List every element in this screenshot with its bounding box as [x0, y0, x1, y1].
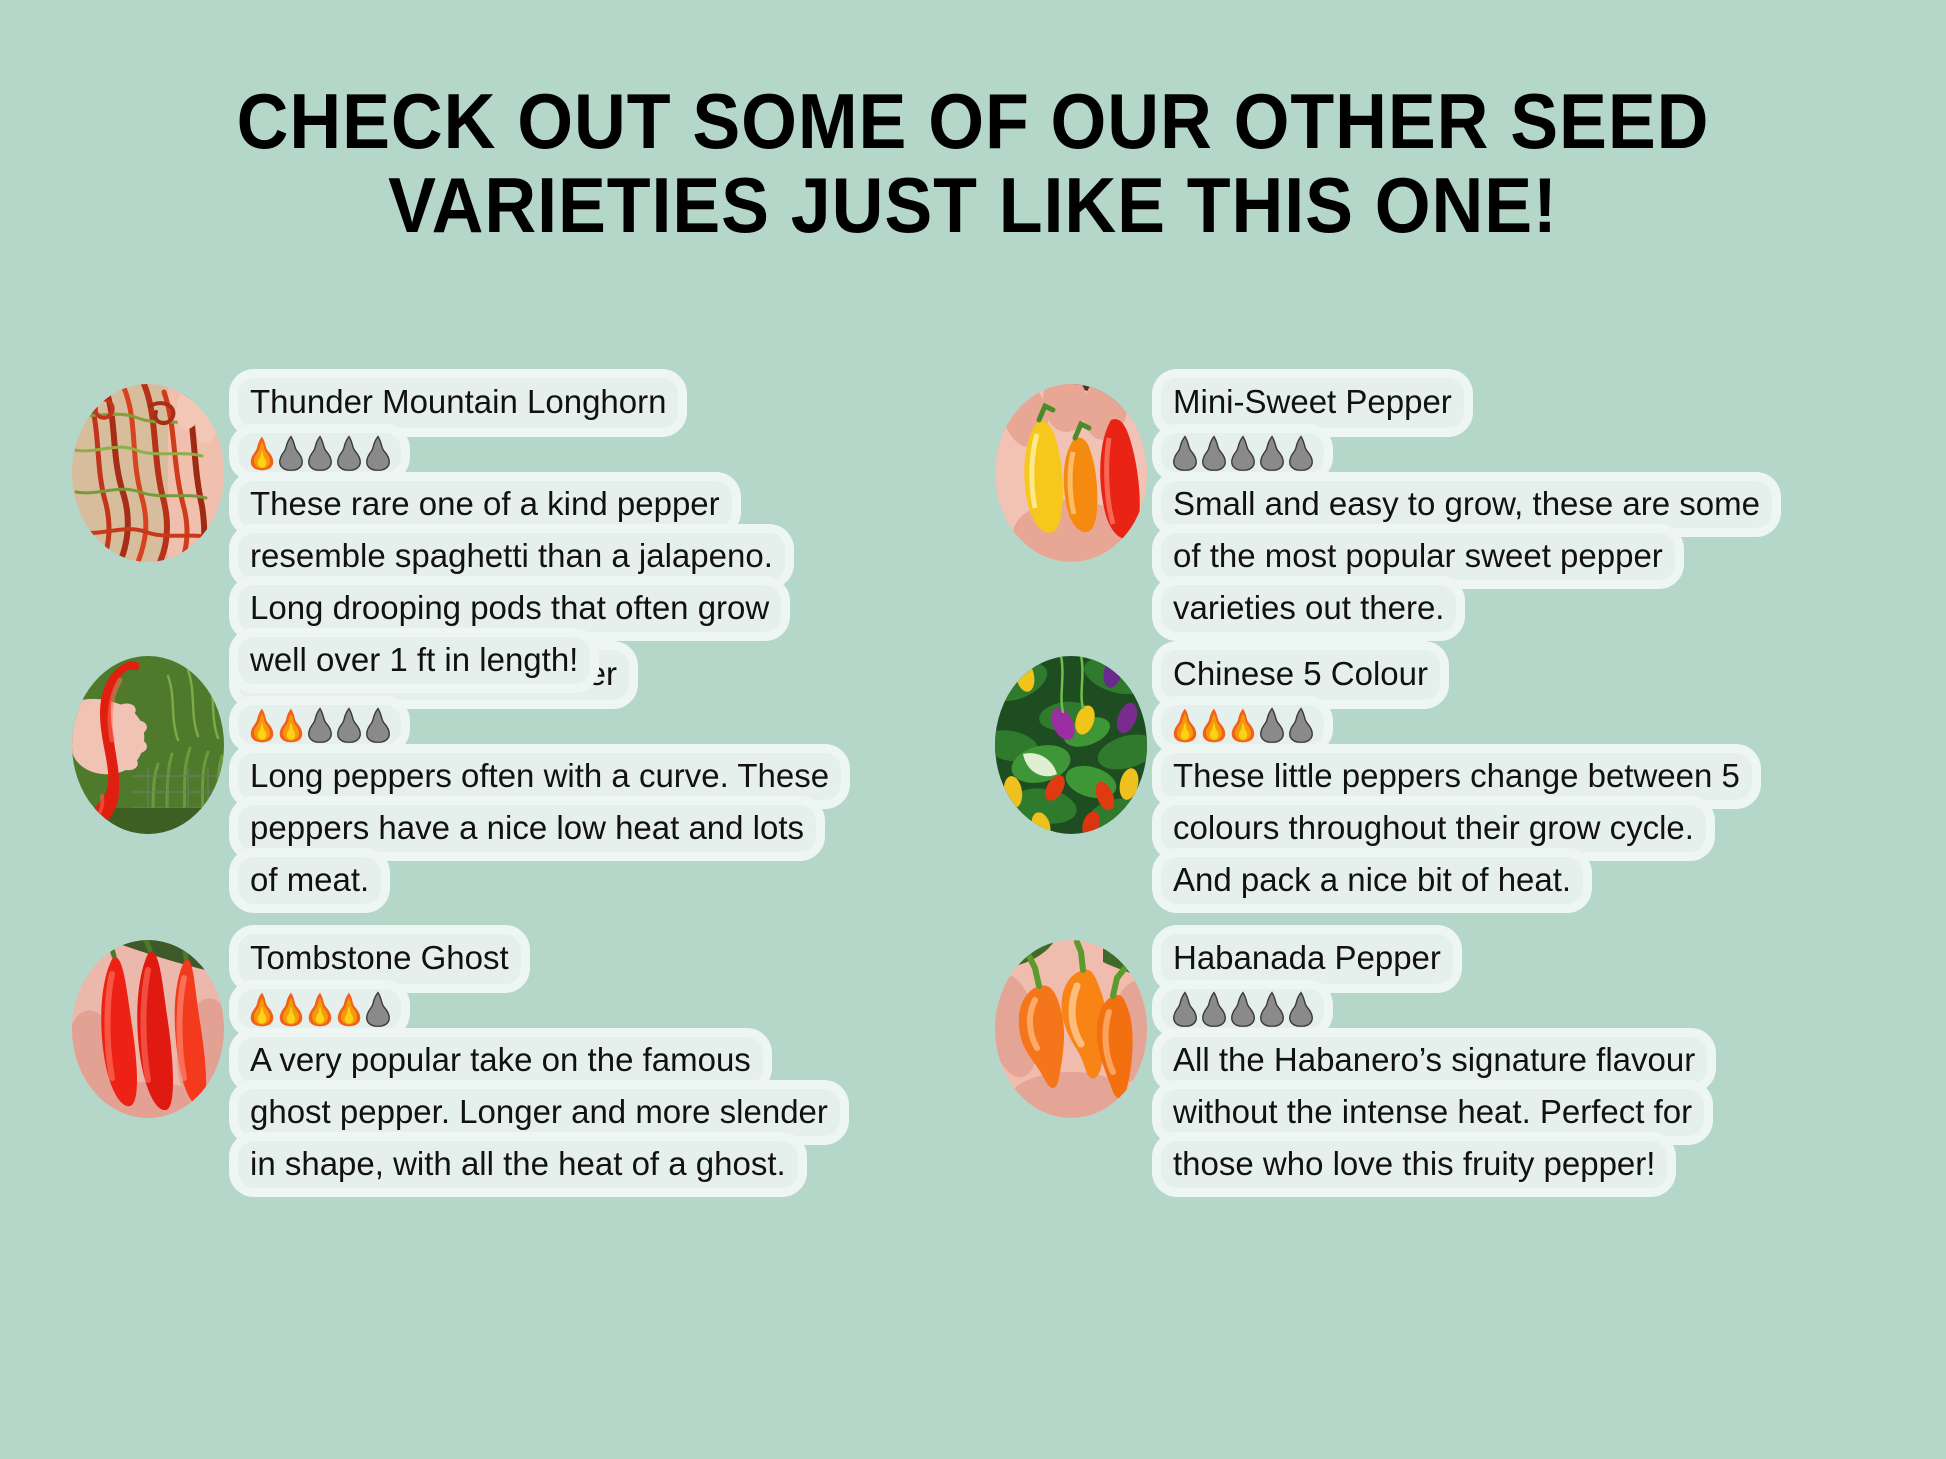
variety-description-line: Long peppers often with a curve. These	[238, 753, 841, 800]
variety-description-line: These rare one of a kind pepper	[238, 481, 732, 528]
flame-hot-icon	[276, 991, 306, 1027]
variety-description-line: resemble spaghetti than a jalapeno.	[238, 533, 785, 580]
variety-card-chinese-5-colour[interactable]: Chinese 5 ColourThese little peppers cha…	[995, 640, 1946, 924]
flame-cold-icon	[1170, 991, 1200, 1027]
flame-hot-icon	[1228, 707, 1258, 743]
variety-card-tombstone-ghost[interactable]: Tombstone GhostA very popular take on th…	[0, 924, 995, 1204]
heat-rating-0-of-5	[1161, 433, 1324, 473]
flame-cold-icon	[363, 435, 393, 471]
variety-description-line: of the most popular sweet pepper	[1161, 533, 1675, 580]
variety-description-line: Small and easy to grow, these are some	[1161, 481, 1772, 528]
page-title: CHECK OUT SOME OF OUR OTHER SEED VARIETI…	[78, 80, 1868, 247]
variety-description-line: without the intense heat. Perfect for	[1161, 1089, 1704, 1136]
variety-description-line: And pack a nice bit of heat.	[1161, 857, 1583, 904]
variety-thumbnail-thunder-mountain-longhorn[interactable]	[72, 384, 224, 562]
variety-description-line: peppers have a nice low heat and lots	[238, 805, 816, 852]
flame-cold-icon	[1170, 435, 1200, 471]
variety-description-line: Long drooping pods that often grow	[238, 585, 781, 632]
flame-hot-icon	[1199, 707, 1229, 743]
heat-rating-1-of-5	[238, 433, 401, 473]
flame-cold-icon	[1257, 991, 1287, 1027]
flame-cold-icon	[1286, 435, 1316, 471]
variety-card-row: Thunder Mountain LonghornThese rare one …	[0, 368, 1946, 640]
variety-description: These little peppers change between 5col…	[1161, 753, 1946, 904]
variety-description-line: in shape, with all the heat of a ghost.	[238, 1141, 798, 1188]
flame-cold-icon	[1286, 707, 1316, 743]
heat-rating-0-of-5	[1161, 989, 1324, 1029]
variety-thumbnail-portuguese-long-pepper[interactable]	[72, 656, 224, 834]
flame-hot-icon	[276, 707, 306, 743]
variety-description-line: A very popular take on the famous	[238, 1037, 763, 1084]
heat-rating-wrapper	[1161, 433, 1946, 479]
flame-cold-icon	[363, 707, 393, 743]
variety-name: Mini-Sweet Pepper	[1161, 378, 1464, 428]
flame-cold-icon	[1228, 991, 1258, 1027]
flame-cold-icon	[1257, 435, 1287, 471]
variety-description: All the Habanero’s signature flavourwith…	[1161, 1037, 1946, 1188]
heat-rating-wrapper	[1161, 989, 1946, 1035]
page-title-line-2: VARIETIES JUST LIKE THIS ONE!	[78, 164, 1868, 247]
heat-rating-wrapper	[1161, 705, 1946, 751]
variety-name: Tombstone Ghost	[238, 934, 521, 984]
variety-description-line: These little peppers change between 5	[1161, 753, 1752, 800]
heat-rating-2-of-5	[238, 705, 401, 745]
variety-description-line: All the Habanero’s signature flavour	[1161, 1037, 1707, 1084]
variety-name: Chinese 5 Colour	[1161, 650, 1440, 700]
variety-card-row: Tombstone GhostA very popular take on th…	[0, 924, 1946, 1204]
variety-description-line: of meat.	[238, 857, 381, 904]
flame-hot-icon	[1170, 707, 1200, 743]
variety-description: Small and easy to grow, these are someof…	[1161, 481, 1946, 632]
variety-description-line: varieties out there.	[1161, 585, 1456, 632]
variety-thumbnail-chinese-5-colour[interactable]	[995, 656, 1147, 834]
variety-description-line: those who love this fruity pepper!	[1161, 1141, 1667, 1188]
variety-thumbnail-habanada-pepper[interactable]	[995, 940, 1147, 1118]
variety-card-habanada-pepper[interactable]: Habanada PepperAll the Habanero’s signat…	[995, 924, 1946, 1204]
heat-rating-wrapper	[238, 989, 995, 1035]
heat-rating-4-of-5	[238, 989, 401, 1029]
flame-cold-icon	[1199, 435, 1229, 471]
variety-name: Habanada Pepper	[1161, 934, 1453, 984]
flame-cold-icon	[1199, 991, 1229, 1027]
flame-hot-icon	[247, 435, 277, 471]
variety-description-line: colours throughout their grow cycle.	[1161, 805, 1706, 852]
flame-cold-icon	[1228, 435, 1258, 471]
variety-body-chinese-5-colour: Chinese 5 ColourThese little peppers cha…	[1161, 640, 1946, 909]
variety-body-habanada-pepper: Habanada PepperAll the Habanero’s signat…	[1161, 924, 1946, 1193]
flame-cold-icon	[334, 435, 364, 471]
variety-thumbnail-tombstone-ghost[interactable]	[72, 940, 224, 1118]
heat-rating-wrapper	[238, 433, 995, 479]
variety-card-thunder-mountain-longhorn[interactable]: Thunder Mountain LonghornThese rare one …	[0, 368, 995, 640]
flame-hot-icon	[305, 991, 335, 1027]
flame-cold-icon	[1286, 991, 1316, 1027]
heat-rating-wrapper	[238, 705, 995, 751]
flame-cold-icon	[334, 707, 364, 743]
variety-description-line: well over 1 ft in length!	[238, 637, 590, 684]
flame-hot-icon	[247, 707, 277, 743]
flame-cold-icon	[1257, 707, 1287, 743]
variety-description: A very popular take on the famousghost p…	[238, 1037, 995, 1188]
flame-hot-icon	[247, 991, 277, 1027]
flame-cold-icon	[363, 991, 393, 1027]
flame-hot-icon	[334, 991, 364, 1027]
variety-description: Long peppers often with a curve. Thesepe…	[238, 753, 995, 904]
variety-name: Thunder Mountain Longhorn	[238, 378, 678, 428]
flame-cold-icon	[305, 435, 335, 471]
variety-description-line: ghost pepper. Longer and more slender	[238, 1089, 840, 1136]
variety-card-mini-sweet-pepper[interactable]: Mini-Sweet PepperSmall and easy to grow,…	[995, 368, 1946, 640]
variety-thumbnail-mini-sweet-pepper[interactable]	[995, 384, 1147, 562]
heat-rating-3-of-5	[1161, 705, 1324, 745]
flame-cold-icon	[305, 707, 335, 743]
variety-body-mini-sweet-pepper: Mini-Sweet PepperSmall and easy to grow,…	[1161, 368, 1946, 637]
variety-card-grid: Thunder Mountain LonghornThese rare one …	[0, 368, 1946, 1204]
variety-body-tombstone-ghost: Tombstone GhostA very popular take on th…	[238, 924, 995, 1193]
page-title-line-1: CHECK OUT SOME OF OUR OTHER SEED	[78, 80, 1868, 163]
flame-cold-icon	[276, 435, 306, 471]
